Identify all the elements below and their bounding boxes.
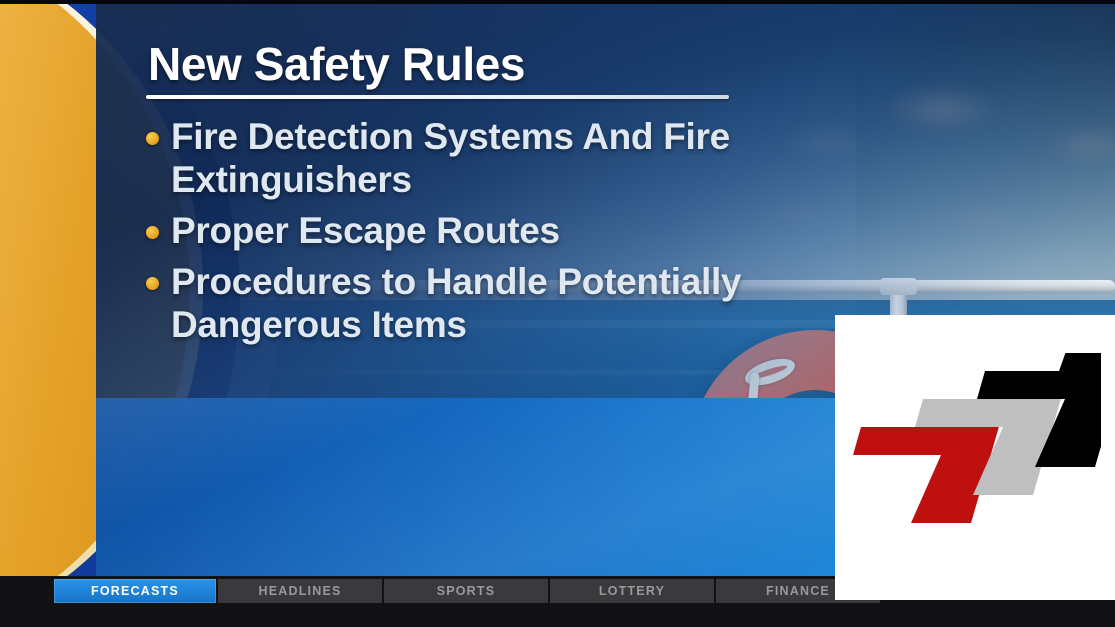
bullet-list: Fire Detection Systems And Fire Extingui…: [146, 116, 846, 355]
list-item-label: Fire Detection Systems And Fire Extingui…: [171, 116, 846, 202]
tab-lottery[interactable]: LOTTERY: [550, 579, 716, 603]
triple-t-logo-icon: [853, 353, 1101, 533]
list-item: Proper Escape Routes: [146, 210, 846, 253]
top-letterbox: [0, 0, 1115, 4]
list-item-label: Proper Escape Routes: [171, 210, 560, 253]
tab-headlines[interactable]: HEADLINES: [218, 579, 384, 603]
bullet-dot-icon: [146, 132, 159, 145]
ticker-tabs: FORECASTS HEADLINES SPORTS LOTTERY FINAN…: [54, 579, 882, 603]
broadcast-graphic-stage: New Safety Rules Fire Detection Systems …: [0, 0, 1115, 627]
title-underline: [146, 95, 729, 99]
tab-forecasts[interactable]: FORECASTS: [54, 579, 218, 603]
bullet-dot-icon: [146, 226, 159, 239]
list-item: Procedures to Handle Potentially Dangero…: [146, 261, 846, 347]
tab-sports[interactable]: SPORTS: [384, 579, 550, 603]
bullet-dot-icon: [146, 277, 159, 290]
page-title: New Safety Rules: [148, 40, 525, 88]
list-item-label: Procedures to Handle Potentially Dangero…: [171, 261, 846, 347]
station-logo-box: [835, 315, 1115, 600]
list-item: Fire Detection Systems And Fire Extingui…: [146, 116, 846, 202]
